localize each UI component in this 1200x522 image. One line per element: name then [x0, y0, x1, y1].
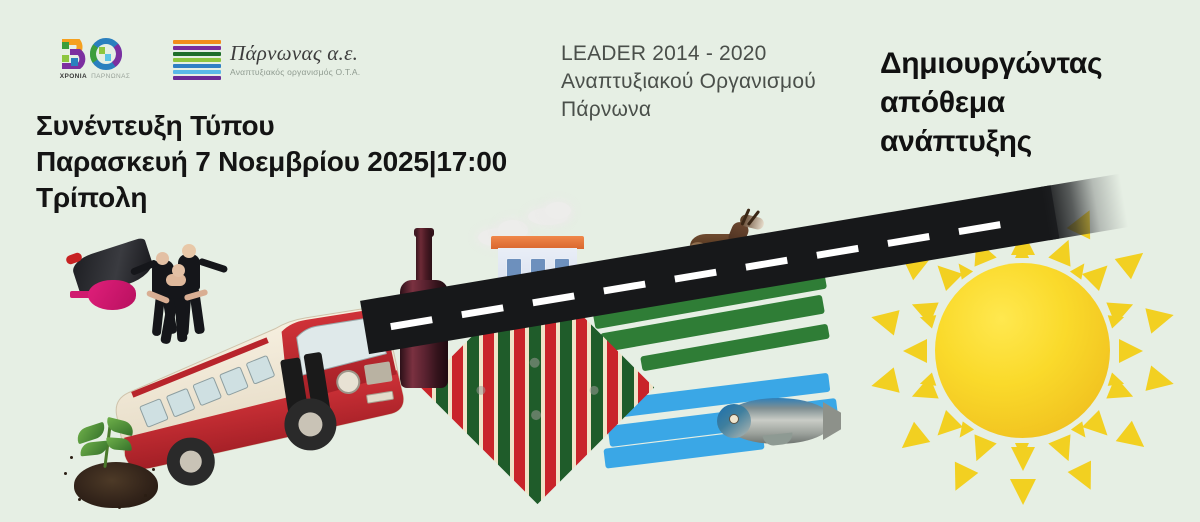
guitar-body: [88, 280, 136, 310]
sun-ray: [1048, 435, 1079, 466]
dancer-head: [156, 252, 169, 265]
30-numeral-icon: [58, 38, 132, 70]
dancer-arm: [198, 258, 229, 274]
seedling-leaf: [106, 437, 133, 451]
parnonas-ae-logo: Πάρνωνας α.ε. Αναπτυξιακός οργανισμός Ο.…: [173, 38, 360, 82]
guitar: [70, 280, 136, 310]
slogan-line-1: Δημιουργώντας: [880, 44, 1102, 83]
anniversary-caption-bold: ΧΡΟΝΙΑ: [60, 73, 87, 80]
dancer-head: [182, 244, 196, 258]
illustration-collage: [0, 180, 1200, 522]
road-fade-edge: [1041, 174, 1129, 240]
cloud: [545, 202, 571, 219]
30-years-caption: ΧΡΟΝΙΑ ΠΑΡΝΩΝΑΣ: [55, 73, 135, 80]
soil-mound: [74, 462, 158, 508]
leader-programme-line: LEADER 2014 - 2020: [561, 40, 816, 68]
dancers: [60, 242, 250, 362]
sun-ray: [965, 435, 996, 466]
slogan-line-3: ανάπτυξης: [880, 122, 1102, 161]
leader-programme-block: LEADER 2014 - 2020 Αναπτυξιακού Οργανισμ…: [561, 40, 816, 124]
30-years-mark: [55, 38, 135, 70]
parnonas-stripes-icon: [173, 38, 221, 82]
fish: [715, 394, 855, 450]
sun-ray: [1010, 479, 1036, 505]
30-years-logo: ΧΡΟΝΙΑ ΠΑΡΝΩΝΑΣ: [55, 38, 135, 80]
seedling: [48, 410, 168, 515]
logo-row: ΧΡΟΝΙΑ ΠΑΡΝΩΝΑΣ Πάρνωνας α.ε. Αναπτυξιακ…: [55, 38, 360, 82]
sun-ray: [903, 339, 927, 363]
sun-ray: [1067, 461, 1102, 496]
sun-ray: [944, 461, 979, 496]
sun-ray: [1145, 303, 1176, 334]
event-datetime-line: Παρασκευή 7 Νοεμβρίου 2025|17:00: [36, 144, 507, 180]
dancer-head: [172, 264, 185, 277]
fish-eye: [729, 414, 739, 424]
sun-ray: [894, 421, 931, 458]
parnonas-subtitle: Αναπτυξιακός οργανισμός Ο.Τ.Α.: [230, 68, 360, 77]
sun-ray: [1015, 443, 1029, 458]
event-type-line: Συνέντευξη Τύπου: [36, 108, 507, 144]
parnonas-title: Πάρνωνας α.ε.: [230, 43, 360, 64]
leader-org-line: Αναπτυξιακού Οργανισμού: [561, 68, 816, 96]
anniversary-caption-light: ΠΑΡΝΩΝΑΣ: [91, 73, 130, 80]
sun-ray: [1116, 420, 1153, 457]
sun-ray: [1119, 339, 1143, 363]
leader-region-line: Πάρνωνα: [561, 96, 816, 124]
sun-ray: [869, 367, 900, 398]
fish-fin: [763, 432, 794, 446]
fish-tail-notch: [841, 412, 857, 430]
parnonas-wordmark: Πάρνωνας α.ε. Αναπτυξιακός οργανισμός Ο.…: [230, 43, 360, 77]
sun-ray: [1146, 366, 1177, 397]
slogan-line-2: απόθεμα: [880, 83, 1102, 122]
event-banner: ΧΡΟΝΙΑ ΠΑΡΝΩΝΑΣ Πάρνωνας α.ε. Αναπτυξιακ…: [0, 0, 1200, 522]
campaign-slogan: Δημιουργώντας απόθεμα ανάπτυξης: [880, 44, 1102, 161]
